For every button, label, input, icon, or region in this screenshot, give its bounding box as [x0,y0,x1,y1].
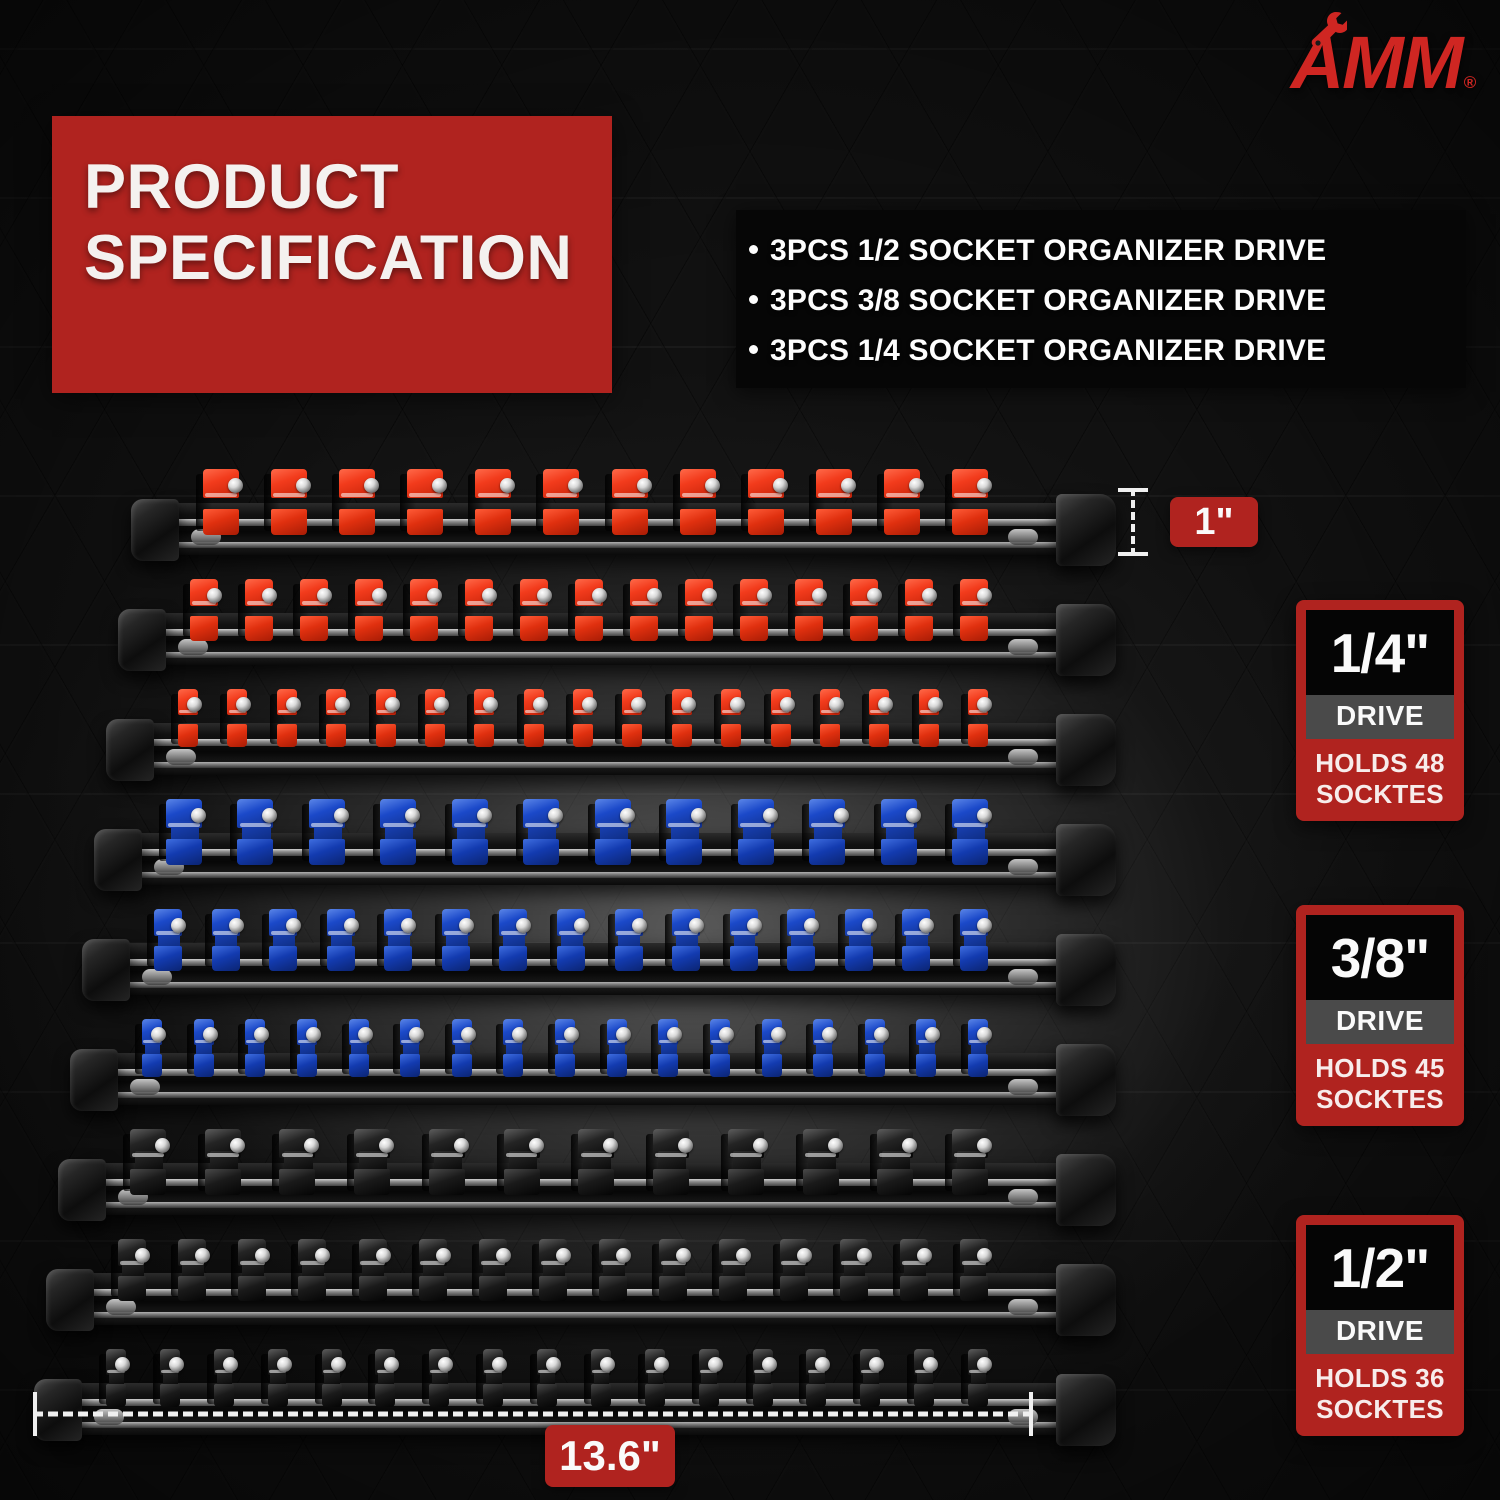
socket-clip [523,799,559,865]
socket-clip [322,1349,342,1407]
clip-ball-detent [747,918,762,933]
socket-clip [666,799,702,865]
clip-part-sheen [668,823,700,827]
socket-clip [658,1019,678,1077]
clip-body [400,1019,420,1077]
clip-ball-detent [780,697,795,712]
clip-body [407,469,443,535]
clip-body [271,469,307,535]
clip-part-bot [968,1054,988,1077]
clip-ball-detent [841,478,856,493]
socket-clip [840,1239,868,1301]
clip-body [160,1349,180,1407]
clip-ball-detent [568,478,583,493]
clip-ball-detent [492,1357,507,1372]
clip-ball-detent [409,1027,424,1042]
clip-part-bot [354,1169,390,1195]
clip-body [730,909,758,971]
clip-part-bot [322,1384,342,1407]
clip-part-bot [645,1384,665,1407]
clip-part-bot [591,1384,611,1407]
rail-mount-screw [106,1299,136,1315]
socket-clip [326,689,346,747]
clip-part-sheen [132,1153,164,1157]
clip-part-bot [630,616,658,641]
rail-mount-screw [1008,639,1038,655]
clip-part-bot [160,1384,180,1407]
clip-part-bot [537,1384,557,1407]
rail-track-upper [80,1289,1080,1296]
clip-part-sheen [546,493,578,497]
clip-ball-detent [203,1027,218,1042]
clip-part-bot [845,946,873,971]
rail-end-cap-right [1056,824,1116,896]
clip-ball-detent [632,918,647,933]
list-item: 3PCS 1/2 SOCKET ORGANIZER DRIVE [736,226,1466,276]
rail-mount-screw [1008,1189,1038,1205]
rail-end-cap-left [94,829,142,891]
clip-body [659,1239,687,1301]
socket-clip [595,799,631,865]
clip-part-bot [300,616,328,641]
clip-part-bot [719,1276,747,1301]
socket-clip [355,579,383,641]
clip-ball-detent [335,697,350,712]
clip-body [483,1349,503,1407]
clip-part-bot [271,509,307,535]
clip-body [194,1019,214,1077]
clip-part-bot [130,1169,166,1195]
clip-body [672,909,700,971]
rail-end-cap-left [131,499,179,561]
rail-mount-screw [178,639,208,655]
socket-clip [300,579,328,641]
clip-part-bot [452,1054,472,1077]
clip-part-bot [795,616,823,641]
clip-body [902,909,930,971]
socket-clip [680,469,716,535]
clip-part-bot [740,616,768,641]
badge-capacity: HOLDS 36 SOCKTES [1306,1354,1454,1424]
clip-part-bot [680,509,716,535]
clip-ball-detent [730,697,745,712]
clip-body [327,909,355,971]
clip-part-sheen [207,1153,239,1157]
clip-part-bot [960,616,988,641]
clip-body [178,689,198,747]
clip-body [916,1019,936,1077]
clip-body [699,1349,719,1407]
socket-clip [375,1349,395,1407]
clip-body [322,1349,342,1407]
clip-part-bot [905,616,933,641]
socket-clip [599,1239,627,1301]
clip-body [607,1019,627,1077]
socket-clip [780,1239,808,1301]
clip-part-bot [555,1054,575,1077]
clip-part-bot [520,616,548,641]
clip-ball-detent [296,478,311,493]
clip-ball-detent [977,1027,992,1042]
clip-body [813,1019,833,1077]
clip-body [523,799,559,865]
clip-body [845,909,873,971]
clip-body [968,1349,988,1407]
socket-clip [499,909,527,971]
clip-body [555,1019,575,1077]
clip-part-bot [699,1384,719,1407]
clip-ball-detent [862,918,877,933]
clip-body [719,1239,747,1301]
socket-clip [865,1019,885,1077]
badge-drive-label: DRIVE [1306,1000,1454,1044]
socket-clip [376,689,396,747]
clip-part-bot [672,946,700,971]
clip-ball-detent [262,808,277,823]
socket-clip [400,1019,420,1077]
clip-part-bot [914,1384,934,1407]
clip-body [968,689,988,747]
socket-clip [968,689,988,747]
socket-clip [968,1019,988,1077]
socket-clip [685,579,713,641]
clip-ball-detent [151,1027,166,1042]
socket-clip [591,1349,611,1407]
socket-clip [130,1129,166,1195]
clip-body [375,1349,395,1407]
clip-part-bot [118,1276,146,1301]
rail-track-lower [116,982,1080,988]
clip-part-bot [780,1276,808,1301]
clip-part-sheen [730,1153,762,1157]
clip-part-bot [106,1384,126,1407]
clip-ball-detent [379,1138,394,1153]
clip-body [178,1239,206,1301]
clip-part-sheen [205,493,237,497]
clip-ball-detent [667,1027,682,1042]
clip-body [205,1129,241,1195]
clip-body [919,689,939,747]
clip-part-bot [813,1054,833,1077]
socket-clip [429,1129,465,1195]
clip-part-bot [237,839,273,865]
clip-part-bot [877,1169,913,1195]
socket-clip [194,1019,214,1077]
socket-rail-group [0,455,1120,1385]
clip-part-bot [816,509,852,535]
clip-body [762,1019,782,1077]
socket-clip [238,1239,266,1301]
clip-part-sheen [273,493,305,497]
clip-ball-detent [829,697,844,712]
clip-body [860,1349,880,1407]
clip-part-bot [410,616,438,641]
socket-clip [520,579,548,641]
registered-mark-icon: ® [1463,73,1474,92]
clip-part-bot [178,724,198,747]
rail-mount-screw [130,1079,160,1095]
clip-ball-detent [438,1357,453,1372]
socket-clip [309,799,345,865]
socket-clip [771,689,791,747]
socket-clip [452,1019,472,1077]
clip-part-sheen [356,1153,388,1157]
clip-ball-detent [582,697,597,712]
clip-body [475,469,511,535]
clip-body [771,689,791,747]
rail-mount-screw [166,749,196,765]
clip-ball-detent [797,1248,812,1263]
clip-body [190,579,218,641]
clip-body [960,909,988,971]
clip-ball-detent [155,1138,170,1153]
socket-clip [877,1129,913,1195]
clip-ball-detent [708,1357,723,1372]
clip-body [503,1019,523,1077]
socket-clip [672,689,692,747]
clip-ball-detent [405,808,420,823]
clip-part-bot [865,1054,885,1077]
clip-ball-detent [223,1357,238,1372]
clip-part-bot [543,509,579,535]
clip-body [474,689,494,747]
clip-body [666,799,702,865]
clip-part-bot [205,1169,241,1195]
clip-body [914,1349,934,1407]
rail-mount-screw [1008,1079,1038,1095]
socket-clip [154,909,182,971]
clip-ball-detent [616,1248,631,1263]
clip-part-bot [809,839,845,865]
socket-rail [0,1023,1120,1127]
clip-ball-detent [909,478,924,493]
clip-part-bot [952,1169,988,1195]
rail-end-cap-right [1056,1154,1116,1226]
clip-ball-detent [773,478,788,493]
socket-clip [410,579,438,641]
clip-ball-detent [255,1248,270,1263]
clip-ball-detent [548,808,563,823]
socket-clip [820,689,840,747]
clip-body [806,1349,826,1407]
clip-part-sheen [818,493,850,497]
clip-part-sheen [282,1153,314,1157]
socket-clip [952,799,988,865]
spec-badge-half: 1/2" DRIVE HOLDS 36 SOCKTES [1296,1215,1464,1436]
clip-ball-detent [496,1248,511,1263]
clip-part-bot [474,724,494,747]
socket-clip [106,1349,126,1407]
socket-clip [203,469,239,535]
socket-clip [699,1349,719,1407]
clip-part-bot [327,946,355,971]
badge-drive-label: DRIVE [1306,1310,1454,1354]
clip-ball-detent [236,697,251,712]
clip-ball-detent [828,1138,843,1153]
clip-part-bot [475,509,511,535]
clip-ball-detent [603,1138,618,1153]
clip-ball-detent [228,478,243,493]
clip-body [269,909,297,971]
clip-part-bot [212,946,240,971]
clip-body [203,469,239,535]
clip-part-sheen [597,823,629,827]
clip-body [960,1239,988,1301]
clip-part-sheen [409,493,441,497]
clip-ball-detent [286,697,301,712]
socket-clip [645,1349,665,1407]
socket-clip [578,1129,614,1195]
clip-ball-detent [834,808,849,823]
clip-body [615,909,643,971]
clip-body [384,909,412,971]
socket-clip [504,1129,540,1195]
page-title: PRODUCT SPECIFICATION [84,152,844,294]
brand-logo-text: AMM® [1291,26,1474,100]
socket-clip [803,1129,839,1195]
clip-ball-detent [977,1138,992,1153]
clip-ball-detent [757,588,772,603]
clip-part-bot [869,724,889,747]
clip-ball-detent [631,697,646,712]
socket-rail [0,913,1120,1017]
clip-part-bot [599,1276,627,1301]
rail-mount-screw [1008,749,1038,765]
socket-clip [429,1349,449,1407]
rail-track-lower [104,1092,1080,1098]
socket-clip [902,909,930,971]
clip-body [721,689,741,747]
clip-part-bot [483,1384,503,1407]
clip-body [672,689,692,747]
clip-ball-detent [304,1138,319,1153]
socket-clip [384,909,412,971]
socket-clip [816,469,852,535]
clip-part-bot [902,946,930,971]
dimension-dash [33,1412,1033,1417]
socket-rail [0,803,1120,907]
clip-body [865,1019,885,1077]
length-dimension-label: 13.6" [545,1425,675,1487]
socket-clip [960,1239,988,1301]
clip-body [591,1349,611,1407]
socket-clip [787,909,815,971]
clip-ball-detent [115,1357,130,1372]
socket-clip [178,1239,206,1301]
socket-clip [795,579,823,641]
clip-body [499,909,527,971]
rail-end-cap-right [1056,714,1116,786]
clip-ball-detent [822,1027,837,1042]
clip-part-bot [806,1384,826,1407]
clip-body [354,1129,390,1195]
rail-mount-screw [1008,859,1038,875]
socket-clip [205,1129,241,1195]
clip-ball-detent [874,1027,889,1042]
clip-ball-detent [286,918,301,933]
clip-ball-detent [977,1357,992,1372]
clip-ball-detent [702,588,717,603]
socket-clip [339,469,375,535]
clip-ball-detent [230,1138,245,1153]
clip-part-bot [400,1054,420,1077]
clip-body [268,1349,288,1407]
clip-part-sheen [655,1153,687,1157]
clip-ball-detent [436,1248,451,1263]
clip-part-bot [820,724,840,747]
socket-clip [479,1239,507,1301]
rail-end-cap-right [1056,604,1116,676]
socket-clip [730,909,758,971]
spec-badge-three-eighths: 3/8" DRIVE HOLDS 45 SOCKTES [1296,905,1464,1126]
clip-body [612,469,648,535]
clip-part-bot [499,946,527,971]
socket-clip [630,579,658,641]
socket-clip [960,579,988,641]
badge-capacity: HOLDS 45 SOCKTES [1306,1044,1454,1114]
clip-body [539,1239,567,1301]
list-item: 3PCS 3/8 SOCKET ORGANIZER DRIVE [736,276,1466,326]
spec-badge-quarter: 1/4" DRIVE HOLDS 48 SOCKTES [1296,600,1464,821]
clip-part-bot [277,724,297,747]
badge-drive-size: 3/8" [1306,915,1454,1000]
clip-part-bot [166,839,202,865]
socket-clip [672,909,700,971]
clip-ball-detent [736,1248,751,1263]
socket-clip [245,1019,265,1077]
socket-clip [407,469,443,535]
clip-part-bot [622,724,642,747]
clip-ball-detent [546,1357,561,1372]
clip-body [309,799,345,865]
height-dimension-label: 1" [1170,497,1258,547]
clip-ball-detent [977,478,992,493]
socket-clip [465,579,493,641]
clip-body [277,689,297,747]
clip-part-sheen [682,493,714,497]
clip-body [622,689,642,747]
socket-clip [380,799,416,865]
rail-end-cap-left [106,719,154,781]
socket-clip [809,799,845,865]
clip-part-bot [429,1169,465,1195]
clip-ball-detent [906,808,921,823]
clip-ball-detent [529,1138,544,1153]
clip-ball-detent [364,478,379,493]
clip-ball-detent [771,1027,786,1042]
socket-rail [0,1243,1120,1347]
clip-ball-detent [902,1138,917,1153]
clip-body [685,579,713,641]
rail-end-cap-right [1056,1374,1116,1446]
clip-body [884,469,920,535]
clip-part-bot [227,724,247,747]
clip-ball-detent [869,1357,884,1372]
clip-part-bot [658,1054,678,1077]
socket-clip [952,1129,988,1195]
socket-clip [475,469,511,535]
clip-part-sheen [879,1153,911,1157]
clip-part-bot [612,509,648,535]
clip-ball-detent [977,588,992,603]
clip-part-bot [960,1276,988,1301]
socket-clip [622,689,642,747]
clip-part-bot [575,616,603,641]
clip-body [419,1239,447,1301]
clip-ball-detent [654,1357,669,1372]
clip-ball-detent [331,1357,346,1372]
clip-body [339,469,375,535]
